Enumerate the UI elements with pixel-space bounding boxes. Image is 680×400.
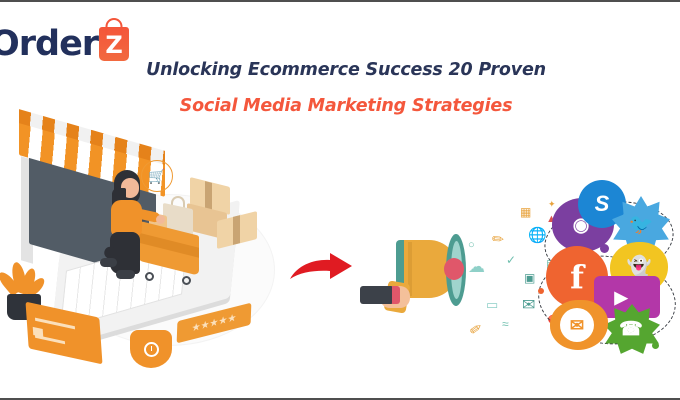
- calendar-icon: ▦: [520, 206, 531, 218]
- accent-dot: [538, 288, 544, 294]
- shoe: [100, 258, 117, 267]
- headline-line-2: Social Media Marketing Strategies: [120, 96, 572, 116]
- cloud-icon: ☁: [468, 258, 485, 275]
- monitor-icon: ▭: [486, 298, 498, 311]
- check-icon: ✓: [506, 254, 516, 266]
- brand-logo[interactable]: Order Z: [0, 16, 129, 62]
- wifi-icon: ≈: [502, 318, 509, 330]
- pencil-icon: ✎: [489, 230, 507, 248]
- hand: [156, 215, 165, 224]
- brand-bag-letter: Z: [99, 27, 129, 61]
- megaphone-handle: [360, 286, 394, 304]
- pencil2-icon: ✏: [467, 320, 486, 340]
- banner-canvas: Order Z Unlocking Ecommerce Success 20 P…: [0, 0, 680, 400]
- shopper-woman: [100, 170, 156, 286]
- page-title: Unlocking Ecommerce Success 20 Proven So…: [120, 60, 572, 116]
- envelope-icon: ✉: [522, 298, 535, 314]
- box-tape: [205, 181, 212, 211]
- accent-dot: [600, 244, 609, 253]
- megaphone-handle-accent: [392, 286, 400, 304]
- circle-outline-icon: ○: [468, 240, 475, 251]
- box-tape: [233, 215, 240, 245]
- twitter-icon[interactable]: 🐦: [624, 210, 658, 240]
- camera-icon: ▣: [524, 272, 535, 284]
- shield-clock-badge: [130, 330, 172, 368]
- social-media-cluster: ◉ S 🐦 👻 f ▶ ☎ ✉: [548, 184, 680, 352]
- cart-wheel: [182, 276, 191, 285]
- ecommerce-storefront-illustration: 🛒: [5, 142, 275, 372]
- shoe: [116, 270, 135, 279]
- accent-dot: [652, 342, 659, 349]
- megaphone: [368, 234, 478, 334]
- whatsapp-icon[interactable]: ☎: [614, 314, 648, 344]
- shopping-bag-icon: Z: [99, 27, 129, 61]
- megaphone-accent: [444, 258, 464, 280]
- headline-line-1: Unlocking Ecommerce Success 20 Proven: [120, 60, 572, 80]
- right-arrow-icon: [288, 252, 354, 286]
- messenger-icon[interactable]: ✉: [560, 308, 594, 342]
- clock-icon: [144, 342, 159, 357]
- brand-wordmark: Order: [0, 27, 98, 62]
